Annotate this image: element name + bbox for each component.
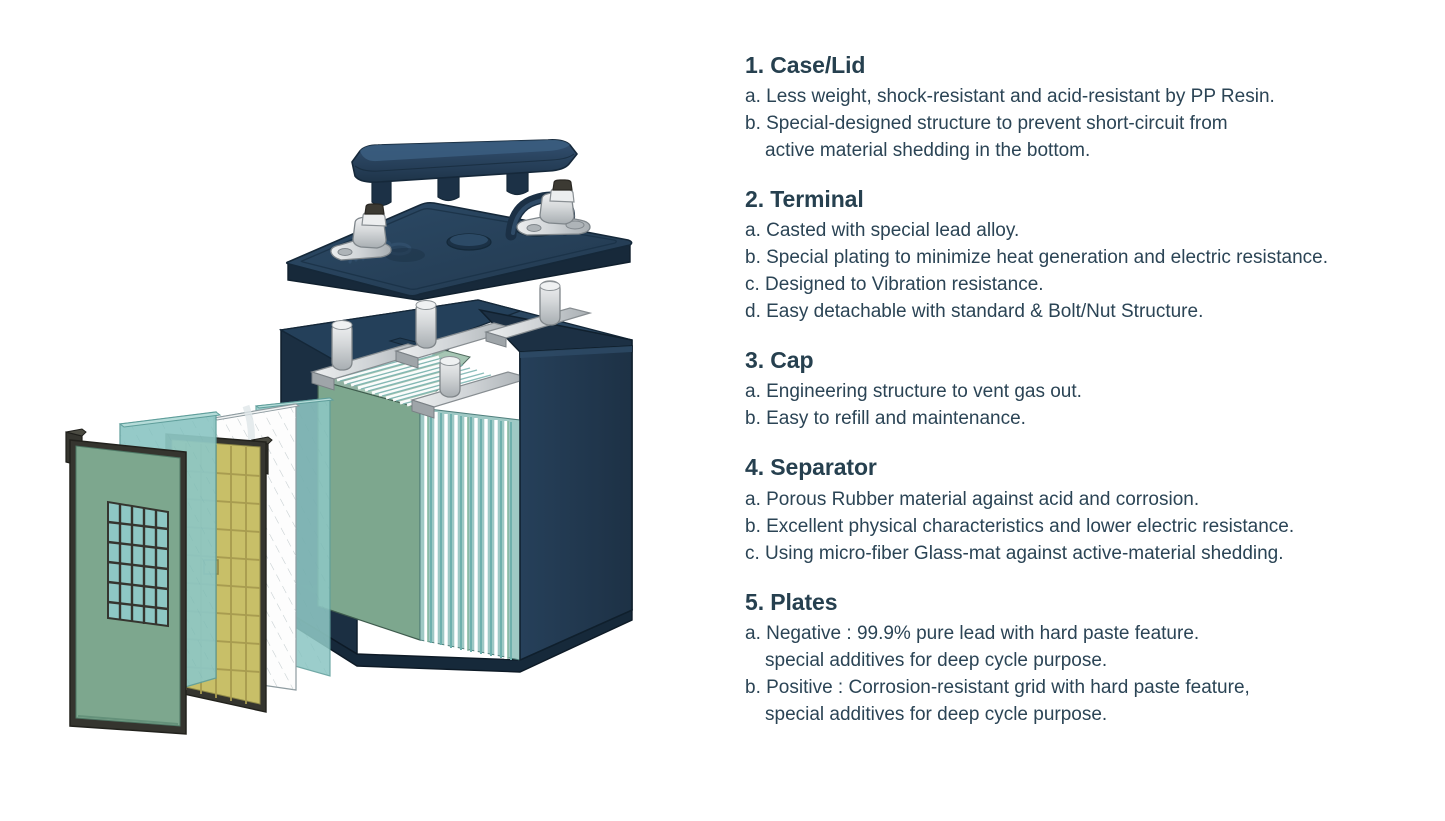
spec-line: b. Easy to refill and maintenance. <box>745 405 1415 432</box>
spec-line: a. Casted with special lead alloy. <box>745 217 1415 244</box>
spec-line: a. Negative : 99.9% pure lead with hard … <box>745 620 1415 647</box>
spec-heading-separator: 4. Separator <box>745 454 1415 481</box>
spec-line: special additives for deep cycle purpose… <box>745 701 1415 728</box>
spec-section-case-lid: 1. Case/Lid a. Less weight, shock-resist… <box>745 52 1415 164</box>
plate-negative-grid-window <box>108 502 168 626</box>
spec-heading-plates: 5. Plates <box>745 589 1415 616</box>
page-root: 1. Case/Lid a. Less weight, shock-resist… <box>0 0 1445 821</box>
case-part <box>281 281 632 672</box>
spec-line: b. Excellent physical characteristics an… <box>745 513 1415 540</box>
spec-section-cap: 3. Cap a. Engineering structure to vent … <box>745 347 1415 432</box>
spec-section-separator: 4. Separator a. Porous Rubber material a… <box>745 454 1415 566</box>
plate-negative <box>66 429 186 734</box>
spec-line: c. Using micro-fiber Glass-mat against a… <box>745 540 1415 567</box>
spec-line: b. Special plating to minimize heat gene… <box>745 244 1415 271</box>
terminal-positive-bolt <box>553 180 572 190</box>
spec-line: b. Special-designed structure to prevent… <box>745 110 1415 137</box>
spec-line: c. Designed to Vibration resistance. <box>745 271 1415 298</box>
terminal-negative <box>331 204 391 260</box>
spec-line: active material shedding in the bottom. <box>745 137 1415 164</box>
spec-section-plates: 5. Plates a. Negative : 99.9% pure lead … <box>745 589 1415 728</box>
spec-line: special additives for deep cycle purpose… <box>745 647 1415 674</box>
spec-heading-cap: 3. Cap <box>745 347 1415 374</box>
specification-panel: 1. Case/Lid a. Less weight, shock-resist… <box>745 52 1415 728</box>
battery-exploded-illustration <box>0 0 720 821</box>
spec-section-terminal: 2. Terminal a. Casted with special lead … <box>745 186 1415 325</box>
plate-negative-stack-face <box>318 380 420 640</box>
case-front-panel <box>520 346 632 660</box>
spec-line: a. Engineering structure to vent gas out… <box>745 378 1415 405</box>
plate-stack-right <box>420 408 520 660</box>
spec-heading-terminal: 2. Terminal <box>745 186 1415 213</box>
spec-heading-case-lid: 1. Case/Lid <box>745 52 1415 79</box>
spec-line: a. Porous Rubber material against acid a… <box>745 486 1415 513</box>
spec-line: b. Positive : Corrosion-resistant grid w… <box>745 674 1415 701</box>
lid-part <box>287 180 632 300</box>
spec-line: d. Easy detachable with standard & Bolt/… <box>745 298 1415 325</box>
terminal-negative-bolt <box>365 204 384 214</box>
spec-line: a. Less weight, shock-resistant and acid… <box>745 83 1415 110</box>
